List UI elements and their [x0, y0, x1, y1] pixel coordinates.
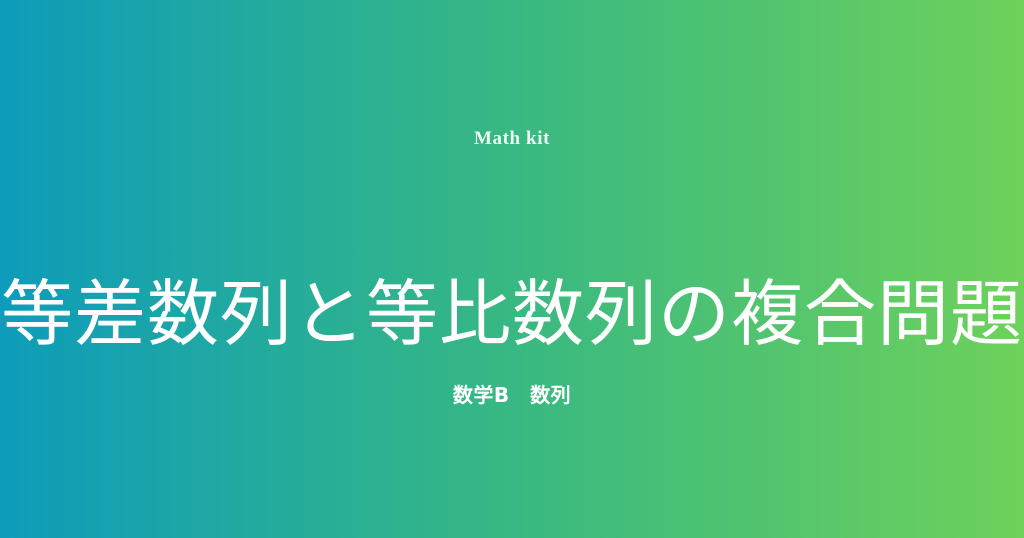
page-title: 等差数列と等比数列の複合問題: [0, 266, 1024, 362]
course-subtitle: 数学B 数列: [0, 381, 1024, 409]
title-slide: Math kit 等差数列と等比数列の複合問題 数学B 数列: [0, 0, 1024, 538]
slide-content: Math kit 等差数列と等比数列の複合問題 数学B 数列: [0, 0, 1024, 538]
brand-eyebrow: Math kit: [0, 126, 1024, 152]
